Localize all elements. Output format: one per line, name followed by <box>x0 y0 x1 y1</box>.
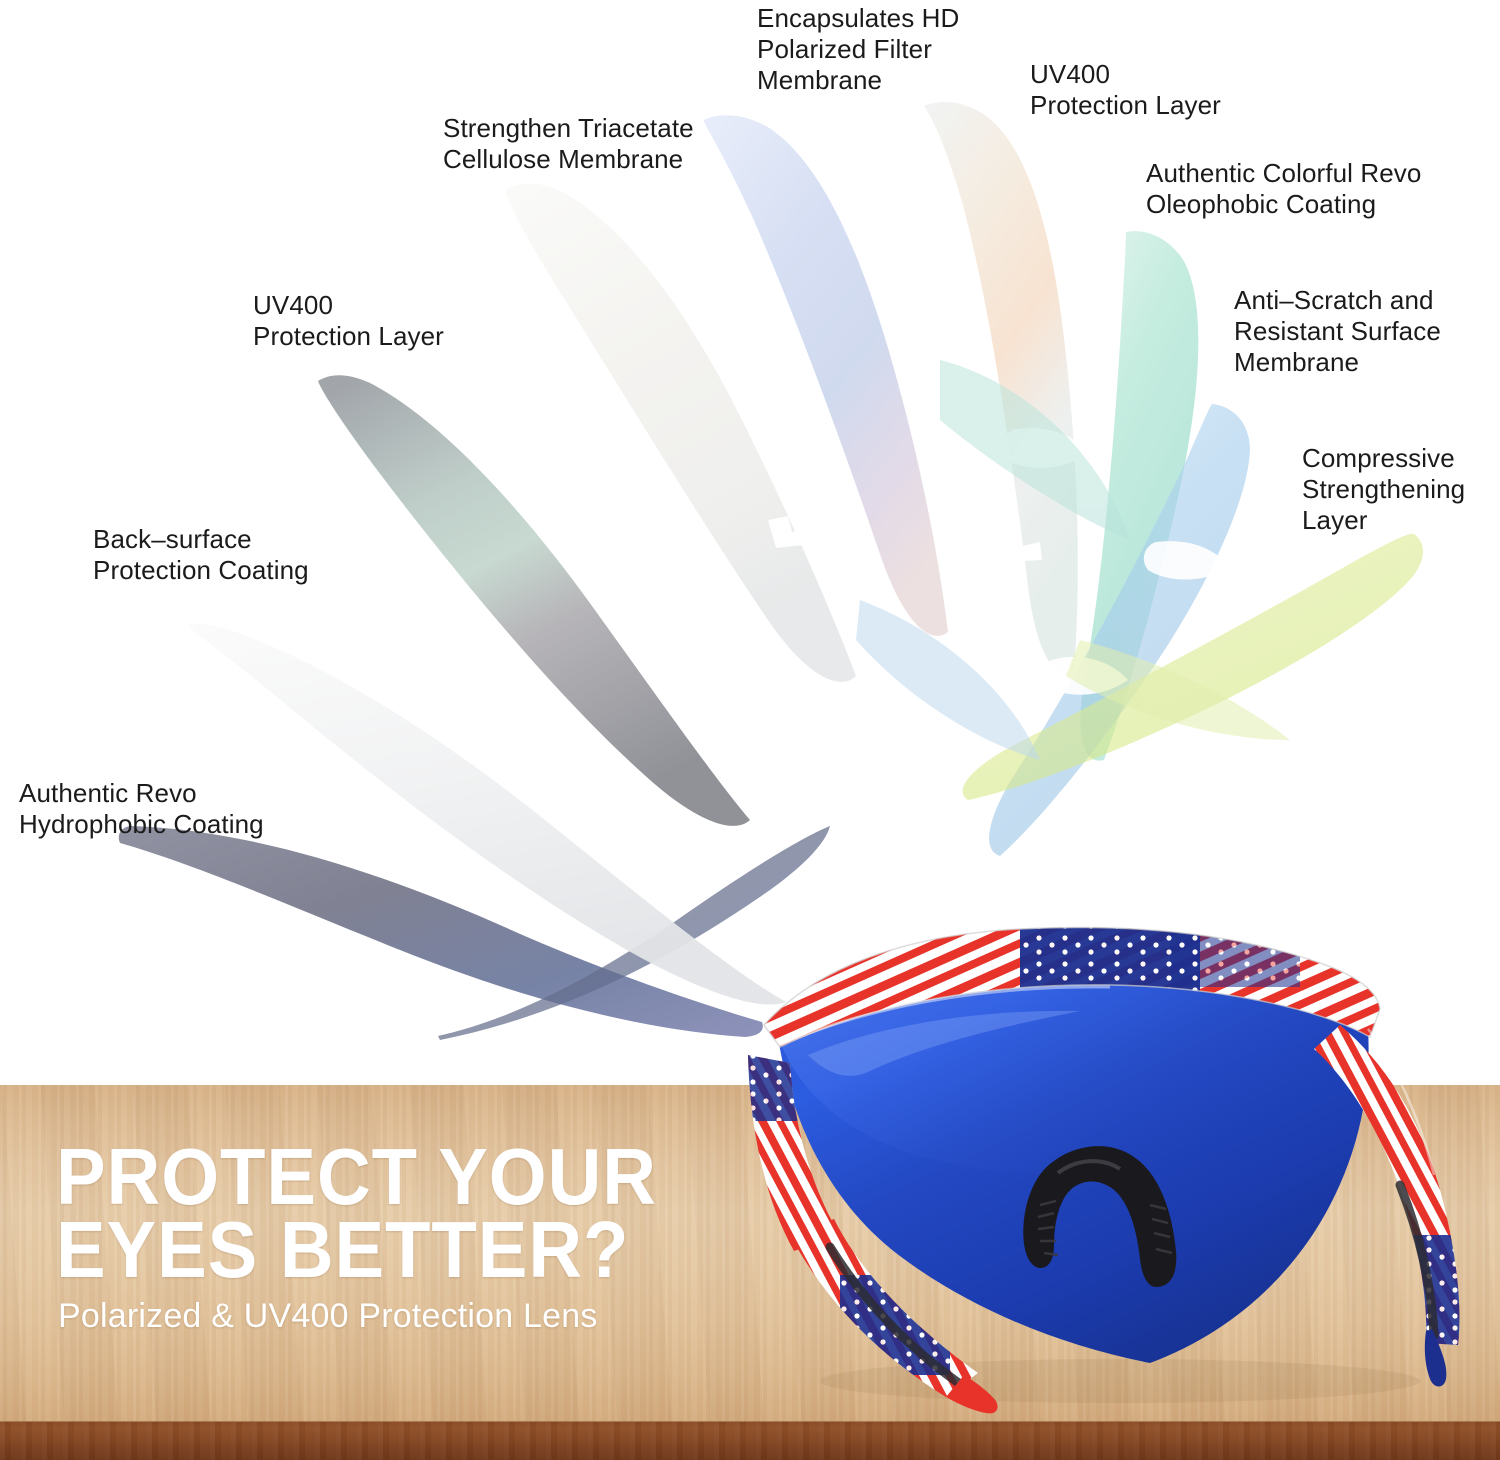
callout-compressive-strengthening-layer: Compressive Strengthening Layer <box>1302 443 1465 536</box>
callout-authentic-revo-hydrophobic-coating: Authentic Revo Hydrophobic Coating <box>19 778 264 840</box>
callout-strengthen-triacetate-cellulose-membrane: Strengthen Triacetate Cellulose Membrane <box>443 113 694 175</box>
callout-authentic-colorful-revo-oleophobic-coating: Authentic Colorful Revo Oleophobic Coati… <box>1146 158 1421 220</box>
page-subheadline: Polarized & UV400 Protection Lens <box>58 1296 598 1336</box>
wood-table-edge <box>0 1422 1500 1460</box>
page-headline: PROTECT YOUR EYES BETTER? <box>56 1140 657 1286</box>
callout-anti-scratch-and-resistant-surface-membrane: Anti–Scratch and Resistant Surface Membr… <box>1234 285 1441 378</box>
callout-encapsulates-hd-polarized-filter-membrane: Encapsulates HD Polarized Filter Membran… <box>757 3 959 96</box>
callout-uv400-protection-layer-left: UV400 Protection Layer <box>253 290 444 352</box>
callout-back-surface-protection-coating: Back–surface Protection Coating <box>93 524 309 586</box>
callout-uv400-protection-layer-right: UV400 Protection Layer <box>1030 59 1221 121</box>
infographic-page: Encapsulates HD Polarized Filter Membran… <box>0 0 1500 1460</box>
sunglasses-product-photo <box>720 905 1500 1425</box>
sunglasses-svg <box>720 905 1500 1425</box>
